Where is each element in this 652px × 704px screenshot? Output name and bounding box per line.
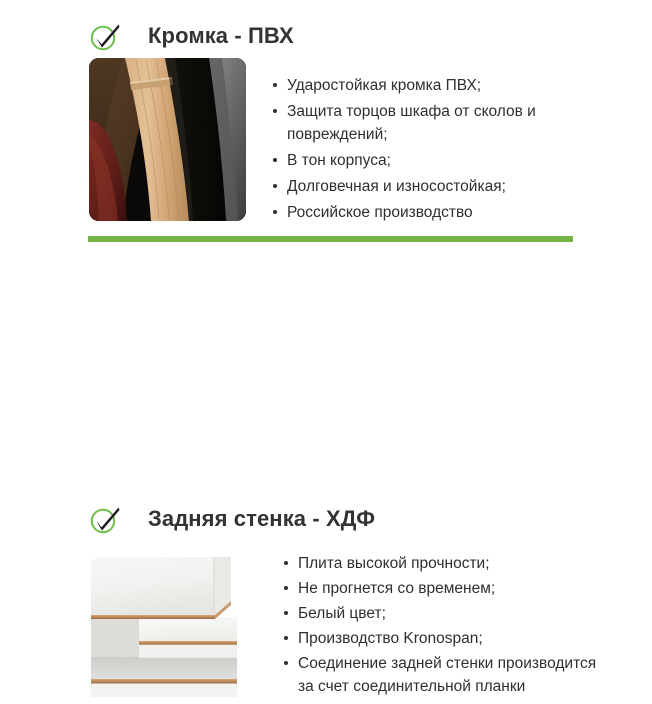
product-image-edge-banding <box>89 58 246 221</box>
product-features-page: Кромка - ПВХ <box>0 0 652 500</box>
list-item: Российское производство <box>272 201 602 224</box>
feature-list-back-panel: Плита высокой прочности; Не прогнется со… <box>283 552 613 700</box>
section-title-edge: Кромка - ПВХ <box>148 25 294 47</box>
list-item: Долговечная и износостойкая; <box>272 175 602 198</box>
feature-list-edge: Ударостойкая кромка ПВХ; Защита торцов ш… <box>272 74 602 227</box>
list-item: В тон корпуса; <box>272 149 602 172</box>
section-divider <box>88 236 573 242</box>
list-item: Защита торцов шкафа от сколов и поврежде… <box>272 100 602 146</box>
list-item: Производство Kronospan; <box>283 627 613 650</box>
product-image-hdf-panel <box>91 557 246 704</box>
list-item: Соединение задней стенки производится за… <box>283 652 613 698</box>
section-title-back-panel: Задняя стенка - ХДФ <box>148 508 375 530</box>
list-item: Белый цвет; <box>283 602 613 625</box>
feature-section-back-panel: Задняя стенка - ХДФ <box>0 248 652 500</box>
check-circle-icon <box>88 19 122 53</box>
check-circle-icon <box>88 502 122 536</box>
list-item: Ударостойкая кромка ПВХ; <box>272 74 602 97</box>
feature-section-edge: Кромка - ПВХ <box>0 0 652 232</box>
image-canvas <box>89 58 246 221</box>
list-item: Не прогнется со временем; <box>283 577 613 600</box>
section-header-back-panel: Задняя стенка - ХДФ <box>88 502 375 536</box>
section-header-edge: Кромка - ПВХ <box>88 19 294 53</box>
list-item: Плита высокой прочности; <box>283 552 613 575</box>
